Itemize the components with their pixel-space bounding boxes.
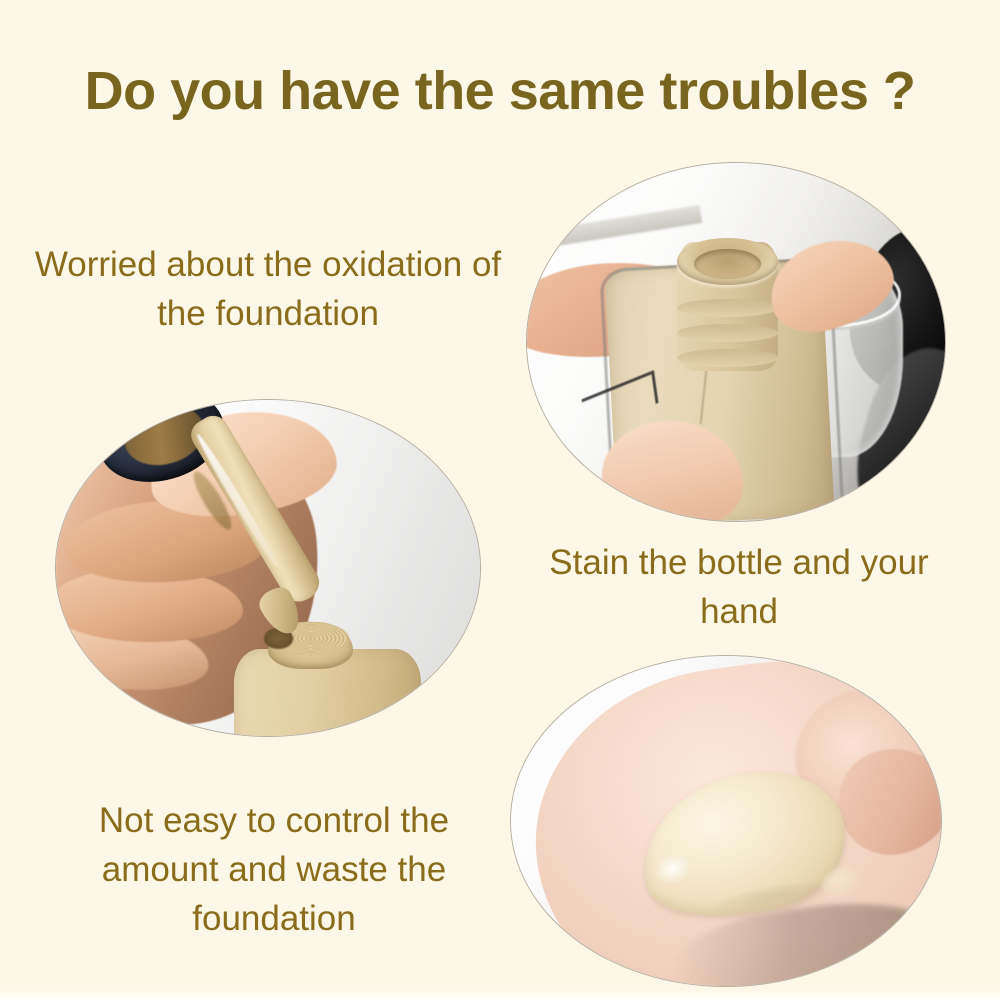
photo-foundation-blob-scene	[511, 656, 941, 986]
caption-control-amount: Not easy to control the amount and waste…	[58, 796, 490, 943]
photo-bottle-open	[527, 163, 945, 521]
photo-bottle-open-scene	[527, 163, 945, 521]
bottle-thread-3	[677, 349, 777, 367]
bottom-edge-strip	[0, 990, 1000, 1000]
photo-applicator-wand-scene	[56, 400, 480, 736]
bottle-thread-2	[677, 324, 777, 342]
page-title: Do you have the same troubles ?	[0, 58, 1000, 124]
bottle-thread-1	[677, 299, 777, 317]
photo-applicator-wand	[56, 400, 480, 736]
caption-oxidation: Worried about the oxidation of the found…	[18, 240, 518, 338]
promo-poster: Do you have the same troubles ? Worried …	[0, 0, 1000, 1000]
photo-foundation-blob	[511, 656, 941, 986]
caption-stain: Stain the bottle and your hand	[540, 538, 938, 636]
